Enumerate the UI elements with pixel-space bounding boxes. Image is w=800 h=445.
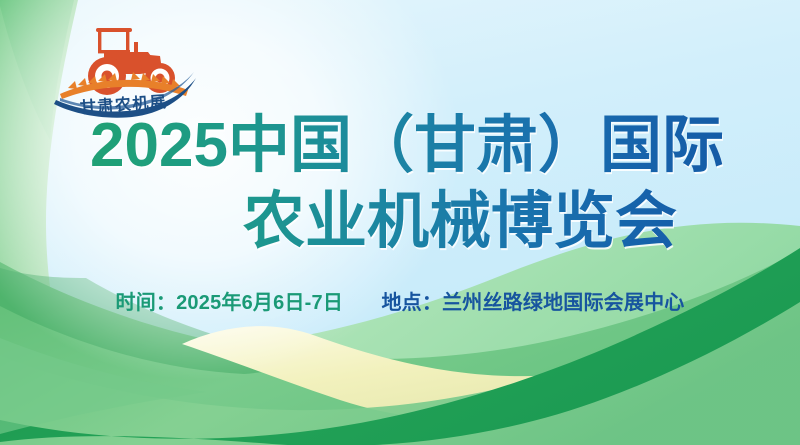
hill-mid-sweep (0, 250, 800, 445)
hill-dark-upper-left (0, 268, 320, 374)
expo-banner: 甘肃农机展 2025中国（甘肃）国际 农业机械博览会 时间：2025年6月6日-… (0, 0, 800, 445)
hill-lower-left-tint (0, 338, 206, 434)
event-info-line: 时间：2025年6月6日-7日 地点：兰州丝路绿地国际会展中心 (0, 286, 800, 315)
expo-logo: 甘肃农机展 (44, 14, 204, 118)
headline-block: 2025中国（甘肃）国际 农业机械博览会 (0, 108, 800, 260)
wave-dark-green (0, 248, 800, 445)
event-location: 地点：兰州丝路绿地国际会展中心 (381, 286, 684, 315)
cream-ribbon-decor (182, 326, 720, 420)
title-line-1: 2025中国（甘肃）国际 (0, 108, 800, 184)
event-time: 时间：2025年6月6日-7日 (116, 286, 344, 315)
title-line-2: 农业机械博览会 (0, 184, 800, 260)
